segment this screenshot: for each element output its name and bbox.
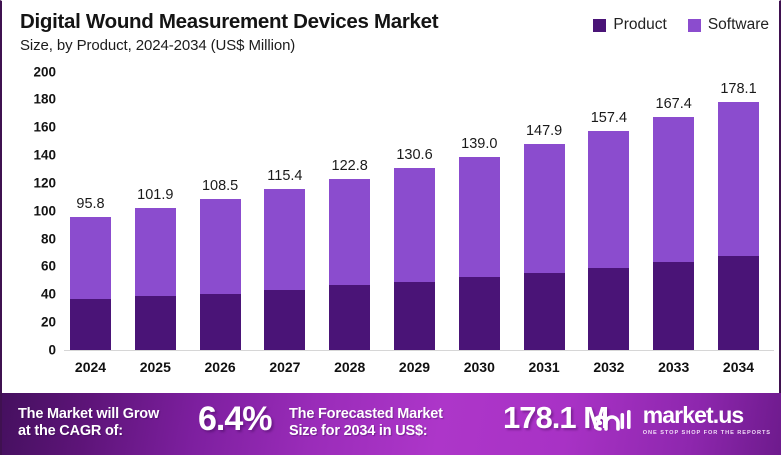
bar-value-label: 157.4	[591, 110, 627, 126]
legend-square-icon	[688, 19, 701, 32]
legend-item-product: Product	[593, 16, 666, 34]
y-axis-tick: 100	[10, 203, 56, 218]
bar-segment-product[interactable]	[70, 299, 111, 350]
x-axis-tick: 2030	[449, 359, 509, 375]
bar-segment-product[interactable]	[588, 268, 629, 350]
bar-segment-product[interactable]	[135, 296, 176, 350]
bar-segment-software[interactable]	[329, 179, 370, 285]
stacked-bar[interactable]: 147.9	[524, 144, 565, 350]
bar-segment-product[interactable]	[459, 277, 500, 350]
bar-segment-product[interactable]	[264, 290, 305, 350]
bar-value-label: 115.4	[267, 168, 302, 184]
bar-value-label: 130.6	[396, 147, 432, 163]
stacked-bar[interactable]: 115.4	[264, 189, 305, 350]
bar-segment-software[interactable]	[264, 189, 305, 290]
stacked-bar[interactable]: 167.4	[653, 117, 694, 350]
stacked-bar[interactable]: 178.1	[718, 102, 759, 350]
x-axis-tick: 2028	[320, 359, 380, 375]
legend-label-software: Software	[708, 16, 769, 34]
legend-item-software: Software	[688, 16, 769, 34]
y-axis-tick: 180	[10, 92, 56, 107]
y-axis-tick: 120	[10, 175, 56, 190]
y-axis-tick: 0	[10, 343, 56, 358]
bar-segment-product[interactable]	[524, 273, 565, 350]
legend-square-icon	[593, 19, 606, 32]
logo-wordmark: market.us	[643, 404, 771, 427]
bar-segment-product[interactable]	[653, 262, 694, 350]
bar-segment-software[interactable]	[135, 208, 176, 296]
stacked-bar[interactable]: 101.9	[135, 208, 176, 350]
legend-label-product: Product	[613, 16, 666, 34]
y-axis-tick: 20	[10, 315, 56, 330]
stacked-bar[interactable]: 157.4	[588, 131, 629, 350]
bar-segment-software[interactable]	[588, 131, 629, 268]
bar-value-label: 167.4	[656, 96, 692, 112]
bar-value-label: 147.9	[526, 123, 562, 139]
bar-segment-software[interactable]	[524, 144, 565, 273]
x-axis-tick: 2024	[61, 359, 121, 375]
x-axis-tick: 2025	[125, 359, 185, 375]
x-axis-tick: 2029	[385, 359, 445, 375]
bar-segment-product[interactable]	[394, 282, 435, 350]
bar-value-label: 95.8	[76, 196, 104, 212]
x-axis-line	[64, 350, 774, 351]
banner-forecast-label: The Forecasted Market Size for 2034 in U…	[289, 406, 443, 440]
bar-segment-product[interactable]	[200, 294, 241, 350]
footer-banner: The Market will Grow at the CAGR of: 6.4…	[2, 393, 781, 455]
chart-title: Digital Wound Measurement Devices Market	[20, 10, 438, 34]
y-axis-tick: 80	[10, 231, 56, 246]
chart-subtitle: Size, by Product, 2024-2034 (US$ Million…	[20, 37, 295, 54]
chart-header: Digital Wound Measurement Devices Market…	[2, 1, 781, 63]
bar-segment-software[interactable]	[718, 102, 759, 256]
x-axis-tick: 2026	[190, 359, 250, 375]
logo-tagline: ONE STOP SHOP FOR THE REPORTS	[643, 430, 771, 436]
stacked-bar[interactable]: 130.6	[394, 168, 435, 350]
market-us-logo-icon	[594, 405, 634, 435]
bar-segment-software[interactable]	[70, 217, 111, 299]
banner-cagr-value: 6.4%	[198, 399, 272, 439]
banner-forecast-value: 178.1 M	[503, 400, 608, 437]
x-axis-tick: 2032	[579, 359, 639, 375]
bar-segment-software[interactable]	[394, 168, 435, 282]
x-axis-tick: 2033	[644, 359, 704, 375]
stacked-bar[interactable]: 139.0	[459, 157, 500, 350]
x-axis-tick: 2031	[514, 359, 574, 375]
bar-value-label: 108.5	[202, 178, 238, 194]
x-axis-tick: 2027	[255, 359, 315, 375]
chart-plot-area: 020406080100120140160180200 95.8101.9108…	[2, 63, 781, 388]
bar-segment-product[interactable]	[718, 256, 759, 350]
bar-value-label: 178.1	[720, 81, 756, 97]
stacked-bar[interactable]: 95.8	[70, 217, 111, 350]
banner-cagr-label: The Market will Grow at the CAGR of:	[18, 406, 159, 440]
chart-infographic: Digital Wound Measurement Devices Market…	[0, 0, 781, 455]
bar-segment-software[interactable]	[653, 117, 694, 262]
y-axis-tick: 200	[10, 64, 56, 79]
bar-value-label: 139.0	[461, 136, 497, 152]
stacked-bar[interactable]: 122.8	[329, 179, 370, 350]
x-axis-tick: 2034	[709, 359, 769, 375]
y-axis-tick: 60	[10, 259, 56, 274]
y-axis-tick: 160	[10, 120, 56, 135]
market-us-logo[interactable]: market.us ONE STOP SHOP FOR THE REPORTS	[594, 404, 771, 436]
stacked-bar[interactable]: 108.5	[200, 199, 241, 350]
bar-segment-software[interactable]	[200, 199, 241, 294]
bar-segment-software[interactable]	[459, 157, 500, 277]
bar-segment-product[interactable]	[329, 285, 370, 350]
y-axis-tick: 40	[10, 287, 56, 302]
bar-value-label: 101.9	[137, 187, 173, 203]
chart-legend: Product Software	[593, 16, 769, 34]
y-axis-tick: 140	[10, 148, 56, 163]
bar-value-label: 122.8	[332, 158, 368, 174]
